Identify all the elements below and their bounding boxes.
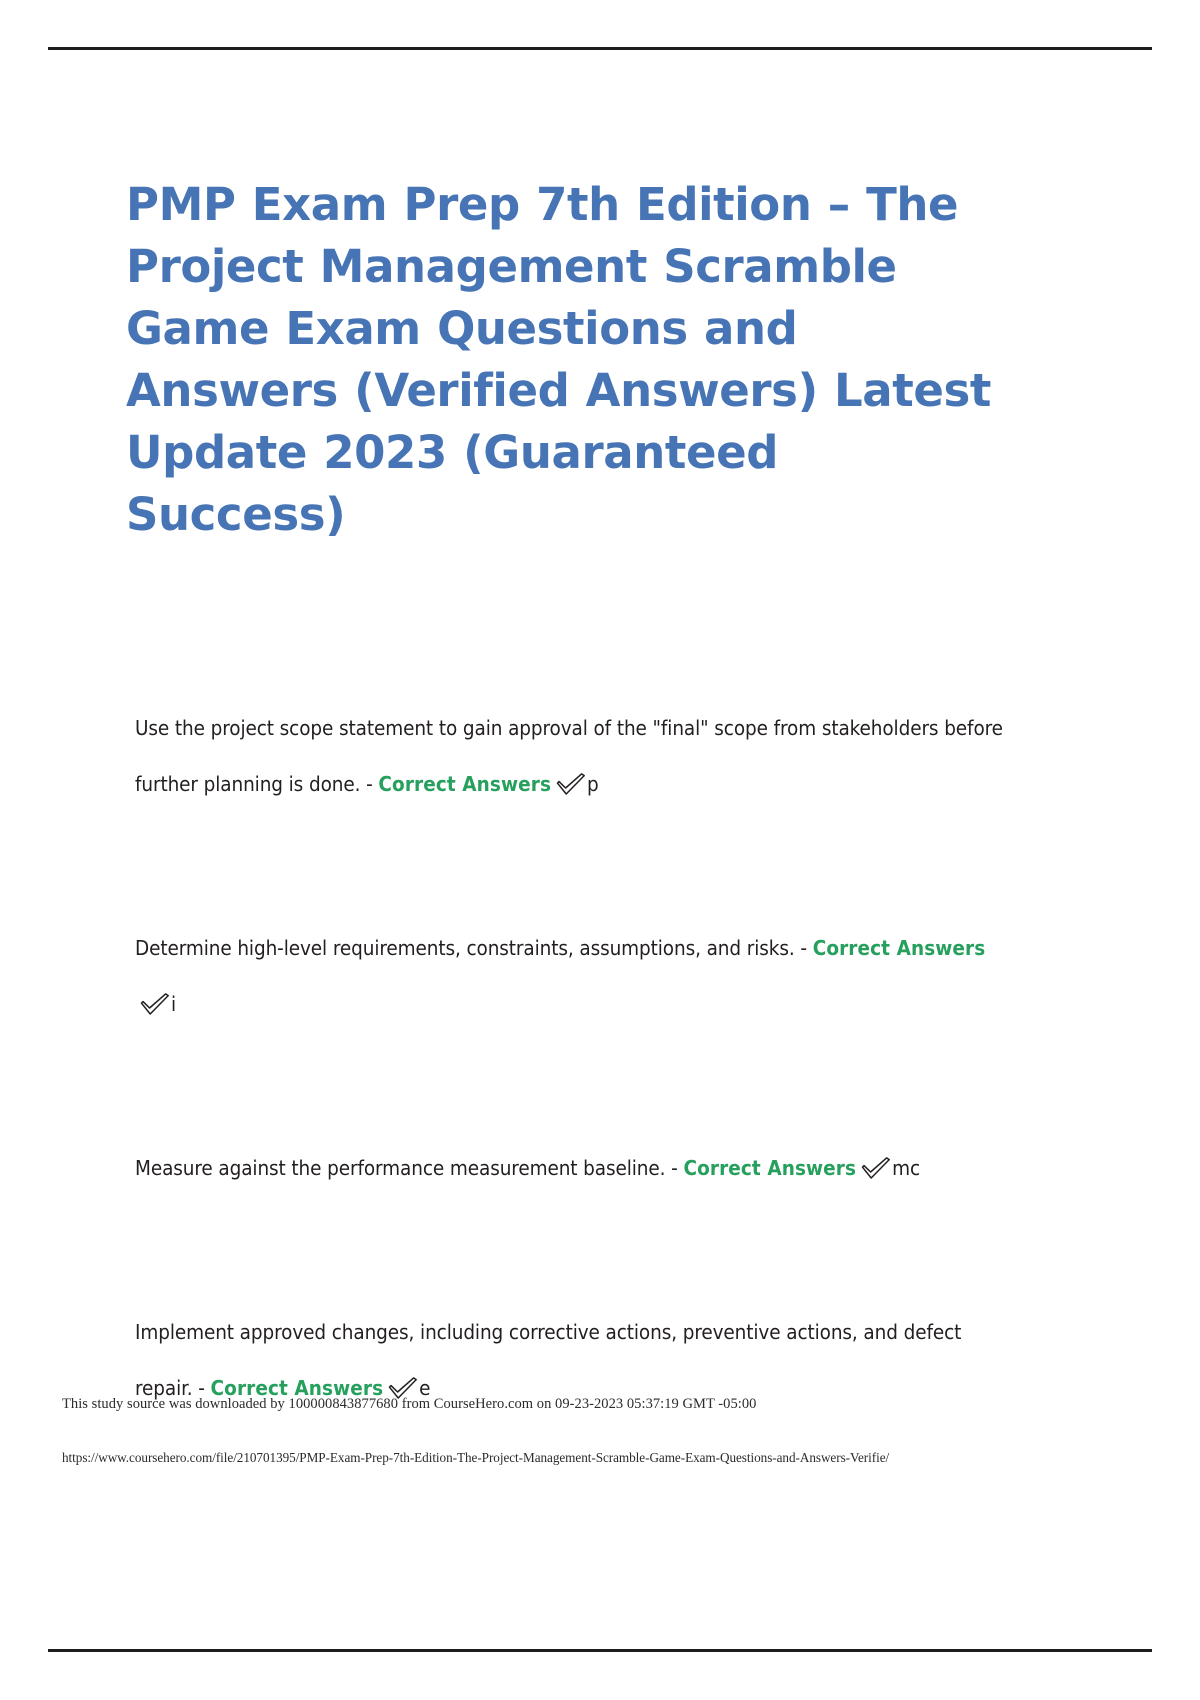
page-bottom-rule — [48, 1649, 1152, 1652]
check-mark-icon — [861, 1157, 891, 1179]
download-notice: This study source was downloaded by 1000… — [62, 1396, 1142, 1413]
check-mark-icon — [556, 773, 586, 795]
title-block: PMP Exam Prep 7th Edition – The Project … — [126, 174, 1006, 546]
qa-question: Determine high-level requirements, const… — [135, 936, 813, 960]
correct-answers-label: Correct Answers — [378, 772, 551, 796]
source-url[interactable]: https://www.coursehero.com/file/21070139… — [62, 1450, 1142, 1466]
qa-answer: i — [171, 992, 176, 1016]
source-url-container: https://www.coursehero.com/file/21070139… — [62, 1450, 1142, 1466]
document-page: PMP Exam Prep 7th Edition – The Project … — [0, 0, 1200, 1700]
check-mark-icon — [140, 993, 170, 1015]
qa-item: Determine high-level requirements, const… — [135, 920, 1007, 1032]
qa-item: Measure against the performance measurem… — [135, 1140, 1007, 1196]
page-title: PMP Exam Prep 7th Edition – The Project … — [126, 174, 1006, 546]
download-notice-container: This study source was downloaded by 1000… — [62, 1396, 1142, 1413]
qa-item: Use the project scope statement to gain … — [135, 700, 1007, 812]
qa-list: Use the project scope statement to gain … — [135, 700, 1007, 1416]
page-top-rule — [48, 47, 1152, 50]
correct-answers-label: Correct Answers — [683, 1156, 856, 1180]
correct-answers-label: Correct Answers — [813, 936, 986, 960]
qa-question: Measure against the performance measurem… — [135, 1156, 683, 1180]
qa-answer: mc — [892, 1156, 920, 1180]
qa-answer: p — [587, 772, 599, 796]
